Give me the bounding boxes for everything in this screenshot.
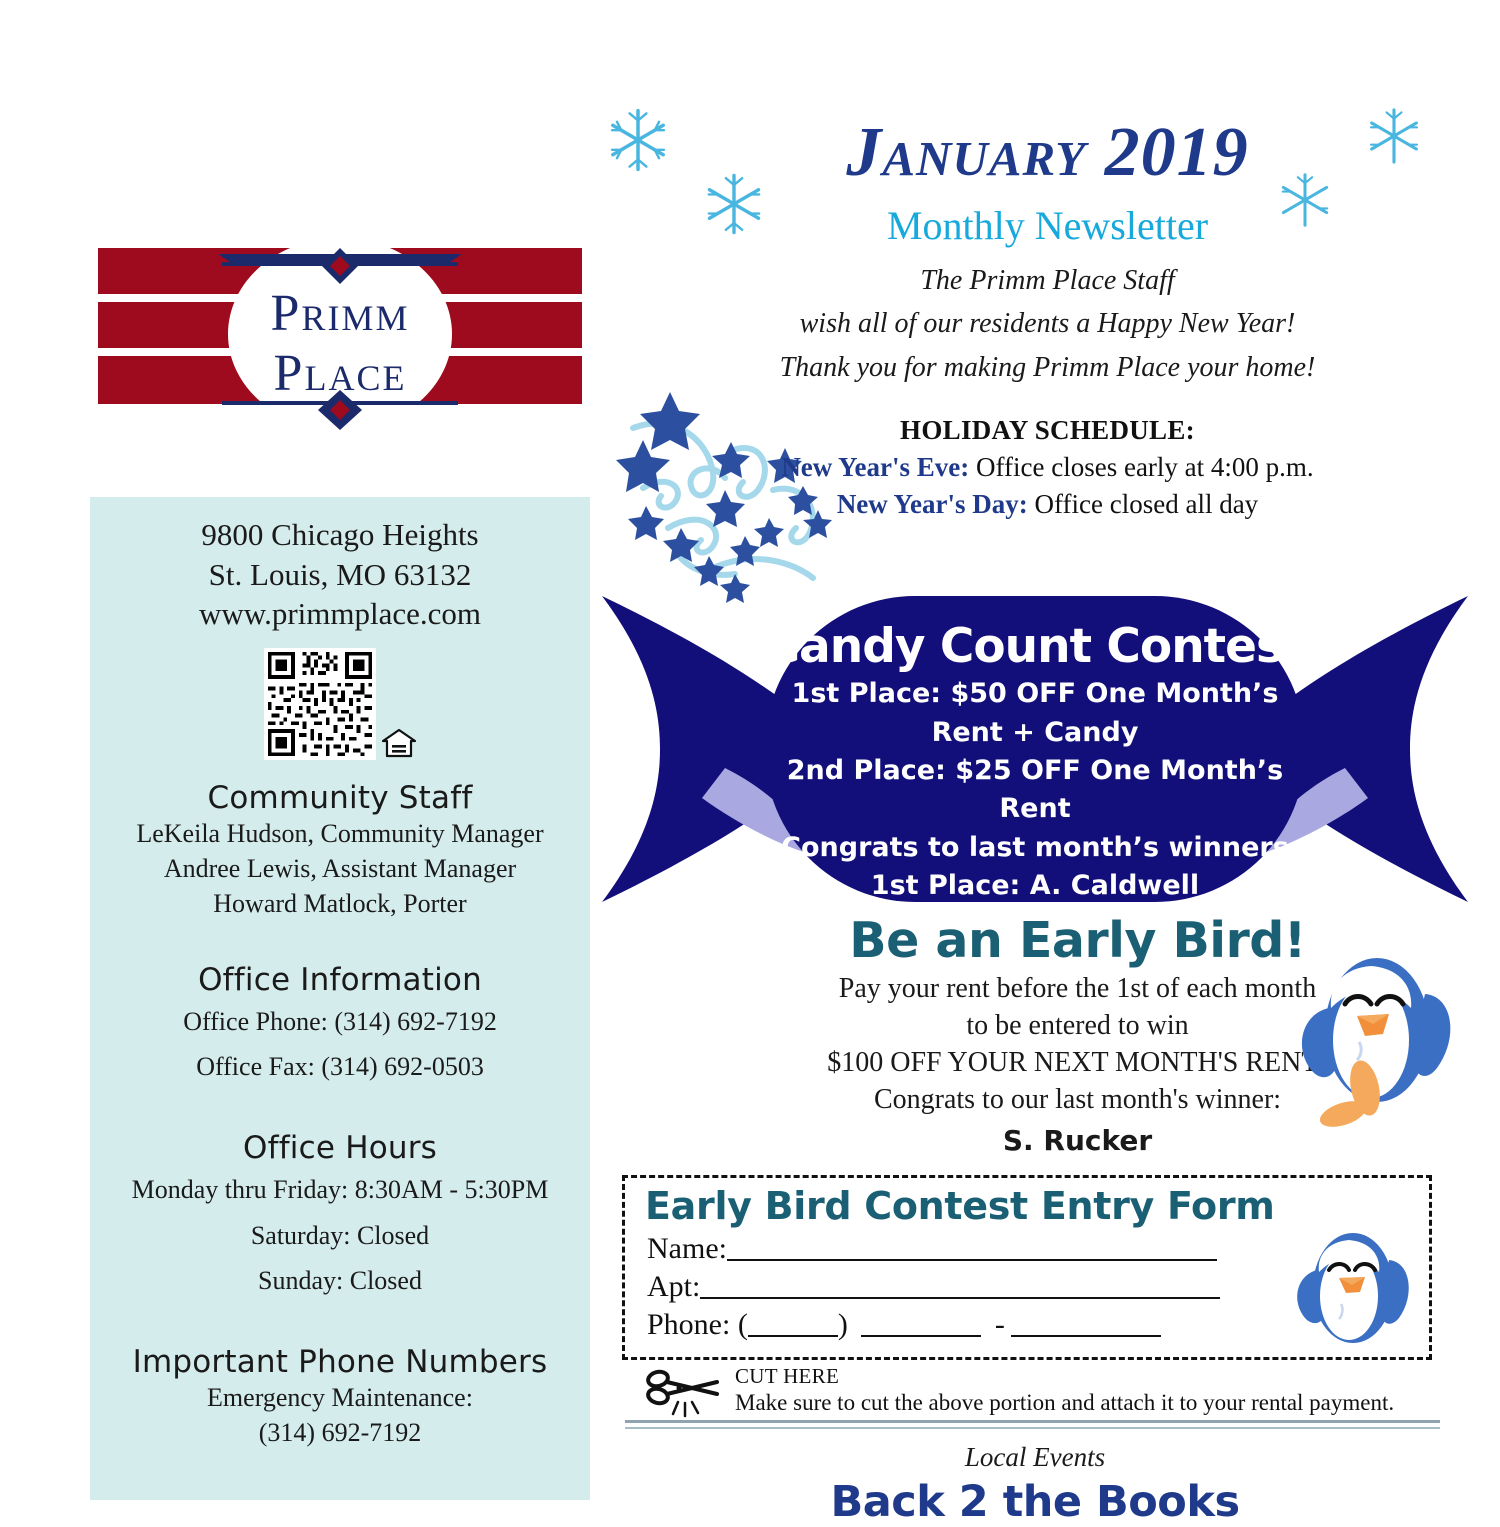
staff-member: LeKeila Hudson, Community Manager [90, 817, 590, 852]
cut-here-heading: CUT HERE [735, 1364, 1394, 1389]
newsletter-page: Primm Place 9800 Chicago Heights St. Lou… [0, 0, 1500, 1500]
logo-graphic: Primm Place [90, 238, 590, 430]
staff-member: Andree Lewis, Assistant Manager [90, 852, 590, 887]
equal-housing-opportunity-icon [382, 728, 416, 758]
hours-sunday: Sunday: Closed [90, 1258, 590, 1304]
candy-count-contest-banner: Candy Count Contest 1st Place: $50 OFF O… [590, 588, 1480, 910]
hours-weekday: Monday thru Friday: 8:30AM - 5:30PM [90, 1167, 590, 1213]
right-column: January 2019 Monthly Newsletter The Prim… [595, 0, 1500, 1500]
early-bird-section: Be an Early Bird! Pay your rent before t… [595, 912, 1500, 1162]
holiday-text: Office closes early at 4:00 p.m. [976, 452, 1314, 482]
cut-here-row: CUT HERE Make sure to cut the above port… [645, 1364, 1445, 1424]
candy-prize-line: 1st Place: $50 OFF One Month’s Rent + Ca… [765, 675, 1305, 752]
name-input[interactable] [727, 1259, 1217, 1261]
masthead: January 2019 Monthly Newsletter The Prim… [595, 0, 1500, 389]
community-staff-block: Community Staff LeKeila Hudson, Communit… [90, 780, 590, 922]
early-bird-entry-form: Early Bird Contest Entry Form Name: Apt:… [622, 1175, 1432, 1360]
penguin-icon [1285, 922, 1460, 1127]
office-phone: Office Phone: (314) 692-7192 [90, 999, 590, 1045]
important-phone-numbers-heading: Important Phone Numbers [90, 1344, 590, 1381]
address-block: 9800 Chicago Heights St. Louis, MO 63132… [90, 497, 590, 634]
website-url[interactable]: www.primmplace.com [90, 594, 590, 634]
phone-prefix-input[interactable] [861, 1335, 981, 1337]
left-column: Primm Place 9800 Chicago Heights St. Lou… [0, 0, 595, 1500]
early-bird-winner: S. Rucker [655, 1123, 1500, 1160]
subtitle: Monthly Newsletter [595, 202, 1500, 249]
info-sidebar: 9800 Chicago Heights St. Louis, MO 63132… [90, 497, 590, 1500]
staff-member: Howard Matlock, Porter [90, 887, 590, 922]
svg-text:Place: Place [274, 345, 407, 402]
cut-here-text: CUT HERE Make sure to cut the above port… [735, 1364, 1394, 1416]
name-label: Name: [647, 1232, 727, 1265]
section-divider [625, 1420, 1440, 1429]
candy-winner-line: 1st Place: A. Caldwell [765, 867, 1305, 905]
holiday-label: New Year's Eve: [781, 452, 969, 482]
phone-paren-close: ) [838, 1308, 848, 1341]
phone-label: Phone: ( [647, 1308, 748, 1341]
candy-congrats-line: Congrats to last month’s winners [765, 829, 1305, 867]
office-fax: Office Fax: (314) 692-0503 [90, 1044, 590, 1090]
emergency-maintenance-label: Emergency Maintenance: [90, 1381, 590, 1416]
apt-input[interactable] [700, 1297, 1220, 1299]
holiday-schedule: HOLIDAY SCHEDULE: New Year's Eve: Office… [595, 415, 1500, 520]
candy-prize-line: 2nd Place: $25 OFF One Month’s Rent [765, 752, 1305, 829]
holiday-row: New Year's Day: Office closed all day [595, 489, 1500, 520]
hours-saturday: Saturday: Closed [90, 1213, 590, 1259]
candy-contest-details: 1st Place: $50 OFF One Month’s Rent + Ca… [765, 675, 1305, 943]
scissors-icon [645, 1366, 727, 1418]
phone-area-input[interactable] [748, 1335, 838, 1337]
address-line-2: St. Louis, MO 63132 [90, 555, 590, 595]
local-events-label: Local Events [595, 1442, 1475, 1473]
svg-text:Primm: Primm [271, 285, 410, 342]
apt-label: Apt: [647, 1270, 700, 1303]
penguin-icon [1287, 1208, 1417, 1358]
important-phone-numbers-block: Important Phone Numbers Emergency Mainte… [90, 1344, 590, 1451]
office-hours-heading: Office Hours [90, 1130, 590, 1167]
community-staff-heading: Community Staff [90, 780, 590, 817]
address-line-1: 9800 Chicago Heights [90, 515, 590, 555]
phone-dash: - [995, 1308, 1005, 1341]
divider-line-bottom [625, 1427, 1440, 1429]
qr-code[interactable] [264, 648, 376, 760]
holiday-text: Office closed all day [1035, 489, 1259, 519]
welcome-message: The Primm Place Staff wish all of our re… [595, 259, 1500, 389]
divider-line-top [625, 1420, 1440, 1423]
page-title: January 2019 [595, 118, 1500, 188]
qr-code-graphic [264, 648, 376, 760]
welcome-line: wish all of our residents a Happy New Ye… [595, 302, 1500, 345]
phone-line-input[interactable] [1011, 1335, 1161, 1337]
holiday-schedule-heading: HOLIDAY SCHEDULE: [595, 415, 1500, 446]
office-information-heading: Office Information [90, 962, 590, 999]
welcome-line: Thank you for making Primm Place your ho… [595, 346, 1500, 389]
office-hours-block: Office Hours Monday thru Friday: 8:30AM … [90, 1130, 590, 1304]
emergency-maintenance-number: (314) 692-7192 [90, 1416, 590, 1451]
local-events-section: Local Events Back 2 the Books [595, 1442, 1475, 1527]
local-event-title: Back 2 the Books [595, 1477, 1475, 1527]
holiday-row: New Year's Eve: Office closes early at 4… [595, 452, 1500, 483]
cut-here-note: Make sure to cut the above portion and a… [735, 1390, 1394, 1416]
candy-contest-title: Candy Count Contest [766, 622, 1305, 671]
office-information-block: Office Information Office Phone: (314) 6… [90, 962, 590, 1090]
primm-place-logo: Primm Place [90, 238, 590, 430]
welcome-line: The Primm Place Staff [595, 259, 1500, 302]
qr-row [90, 648, 590, 760]
holiday-label: New Year's Day: [837, 489, 1028, 519]
